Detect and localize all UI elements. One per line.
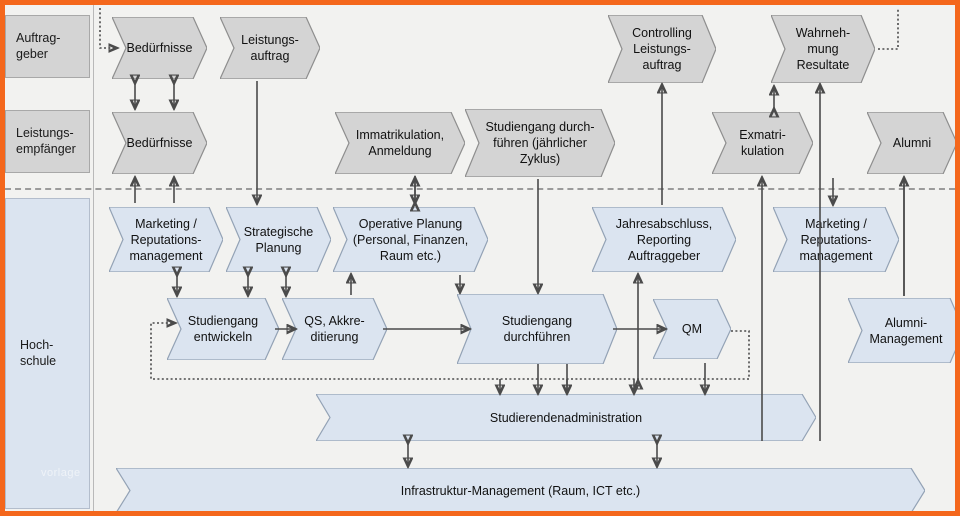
connector-beduerfnisse-exchange [135,83,174,108]
process-diagram-canvas: Auftrag- geber Leistungs- empfänger Hoch… [0,0,960,516]
connector-into-studierendenadministration [500,363,705,393]
connector-wahrnehmung-to-beduerfnisse [100,8,898,49]
connector-beduerfnisse-to-marketing [135,178,174,203]
connector-marketing-rechts-to-alumni-management [833,178,904,296]
connector-support-core-links [177,275,286,295]
connector-studierendenadmin-to-infrastruktur [408,443,657,466]
connector-layer [5,5,960,516]
connector-qm-feedback-loop [151,323,749,379]
